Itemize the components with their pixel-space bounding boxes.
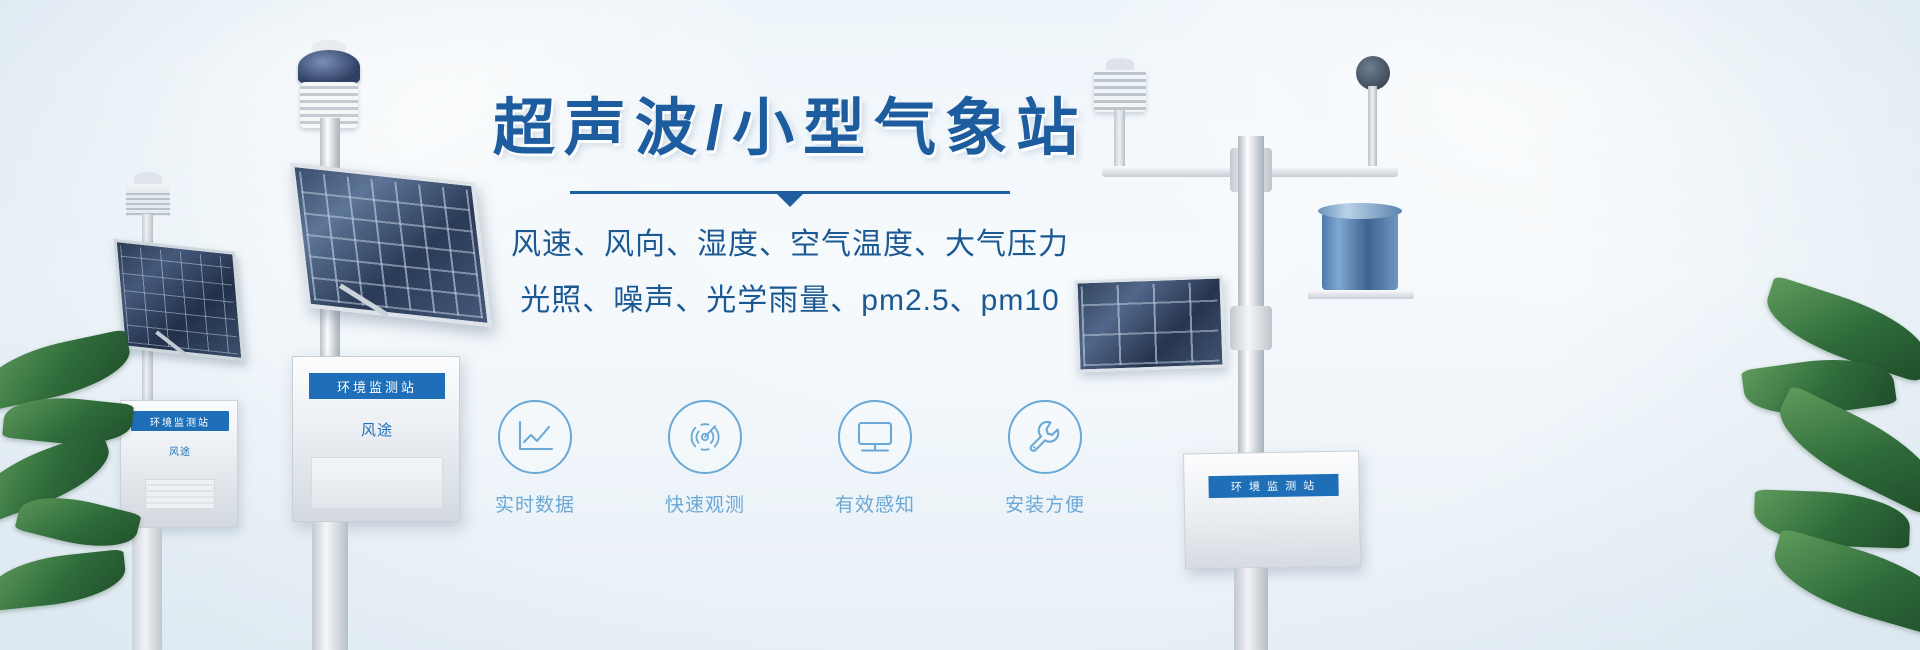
left-control-cabinet: 环境监测站 风途 [120, 400, 238, 528]
line-chart-icon [515, 418, 555, 456]
product-banner: 环境监测站 风途 环境监测站 风途 环 境 监 测 站 [0, 0, 1920, 650]
feature-icon-circle [1008, 400, 1082, 474]
feature-item-fast-observation[interactable]: 快速观测 [644, 400, 766, 517]
banner-text-block: 超声波/小型气象站 风速、风向、湿度、空气温度、大气压力 光照、噪声、光学雨量、… [450, 96, 1130, 319]
title-divider [570, 187, 1010, 201]
right-cabinet-label: 环 境 监 测 站 [1208, 474, 1338, 498]
feature-label: 有效感知 [814, 490, 936, 517]
right-mast-collar-mid [1230, 306, 1272, 350]
left-cabinet-label: 环境监测站 [131, 411, 229, 431]
main-cabinet-label: 环境监测站 [309, 373, 445, 399]
right-vane-stem [1368, 86, 1377, 170]
main-sky-dome-sensor [298, 50, 360, 84]
right-rain-gauge [1322, 212, 1398, 290]
left-solar-panel [114, 239, 245, 361]
left-station-base [132, 528, 162, 650]
feature-label: 快速观测 [644, 490, 766, 517]
feature-label: 实时数据 [474, 490, 596, 517]
feature-label: 安装方便 [984, 490, 1106, 517]
feature-icon-circle [498, 400, 572, 474]
feature-item-realtime-data[interactable]: 实时数据 [474, 400, 596, 517]
main-station-base [312, 522, 348, 650]
left-radiation-shield-icon [126, 190, 170, 216]
feature-item-effective-sensing[interactable]: 有效感知 [814, 400, 936, 517]
feature-icon-circle [668, 400, 742, 474]
main-cabinet-brand: 风途 [293, 419, 461, 440]
monitor-screen-icon [854, 419, 896, 455]
banner-title: 超声波/小型气象站 [450, 96, 1130, 161]
feature-item-easy-install[interactable]: 安装方便 [984, 400, 1106, 517]
right-equipment-shelf [1308, 290, 1414, 299]
main-cabinet-door [311, 457, 443, 509]
left-cabinet-brand: 风途 [121, 443, 239, 458]
right-control-cabinet: 环 境 监 测 站 [1183, 450, 1361, 569]
wrench-icon [1025, 417, 1065, 457]
feature-list: 实时数据 快速观测 [450, 400, 1130, 517]
radar-signal-icon [685, 417, 725, 457]
feature-icon-circle [838, 400, 912, 474]
left-cabinet-vent [145, 479, 215, 509]
right-station-base [1234, 568, 1268, 650]
triangle-down-icon [777, 194, 803, 207]
banner-subtitle-line-2: 光照、噪声、光学雨量、pm2.5、pm10 [450, 275, 1130, 319]
banner-subtitle-line-1: 风速、风向、湿度、空气温度、大气压力 [450, 219, 1130, 263]
main-control-cabinet: 环境监测站 风途 [292, 356, 460, 522]
right-wind-vane-icon [1356, 56, 1390, 90]
